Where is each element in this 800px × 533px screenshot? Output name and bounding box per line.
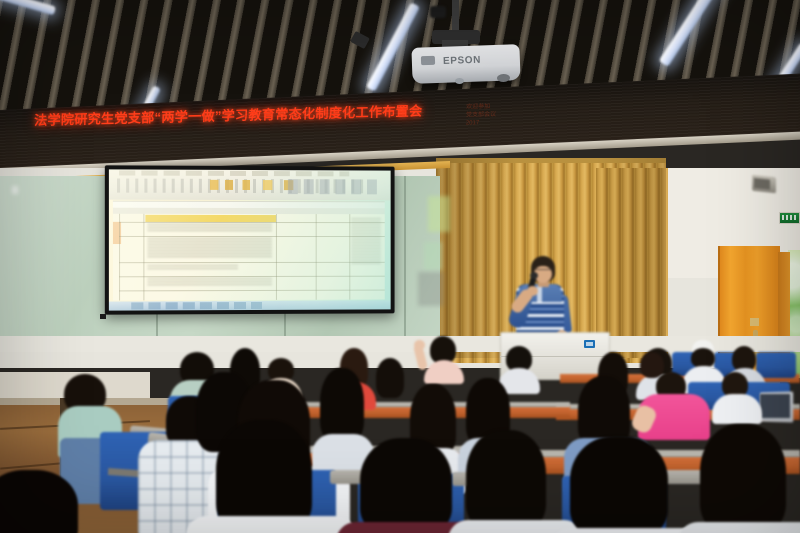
microphone-head [530,272,538,279]
projection-screen [105,165,395,314]
person-hair [360,438,452,533]
projector-knob [455,78,464,84]
greenboard-reflection-2 [424,242,442,270]
table-gridline-v [119,214,120,301]
person-hand [414,340,425,350]
lecture-hall-photo: EPSON 法学院研究生党支部“两学一做”学习教育常态化制度化工作布置会 欢迎参… [0,0,800,533]
table-gridline-v [276,214,277,300]
table-gridline-v [349,214,350,299]
person-hair [466,430,546,530]
person-hair [376,358,404,398]
person-torso [712,394,762,424]
ceiling-camera [430,6,446,18]
banner-secondary-text: 欢迎参加党支部会议2017 [466,104,496,128]
presenter-shirt-placket [537,286,542,302]
table-cell-text [147,238,272,259]
wall-mounted-speaker [752,175,776,194]
projection-screen-surface [109,169,391,310]
stage-front-wall [0,336,800,352]
excel-ribbon-icons-right [288,179,383,194]
excel-ribbon-tabs [119,170,349,176]
greenboard-reflection-1 [428,196,450,232]
door-lock-plate [750,318,759,326]
table-cell-text [147,265,238,269]
projector-mount-pole [452,0,459,34]
presenter-left-hand [527,286,538,296]
table-gridline-v [143,214,144,301]
person-hair [570,436,668,533]
person-torso [678,522,800,533]
table-gridline [119,236,385,237]
lectern-logo-badge [584,340,595,348]
projector-vent [421,56,435,65]
screen-mount-bracket [100,314,106,319]
laptop-display [760,394,790,418]
person-hair [691,348,715,368]
person-hair [320,368,364,442]
banner-text: 法学院研究生党支部“两学一做”学习教育常态化制度化工作布置会 [34,103,464,127]
greenboard-reflection-3 [418,272,444,306]
person-torso [186,516,356,533]
person-hair [640,352,664,378]
greenboard-seam-3 [404,176,406,336]
table-cell-text [147,278,272,286]
emergency-exit-sign [779,212,800,224]
person-hair [700,424,786,532]
taskbar-buttons [131,302,262,310]
chair-back [756,352,796,378]
table-cell-text [351,218,381,266]
table-cell-text [147,224,272,233]
table-gridline-v [316,214,317,300]
projector-brand-label: EPSON [443,54,503,69]
greenboard-highlight [12,186,18,194]
